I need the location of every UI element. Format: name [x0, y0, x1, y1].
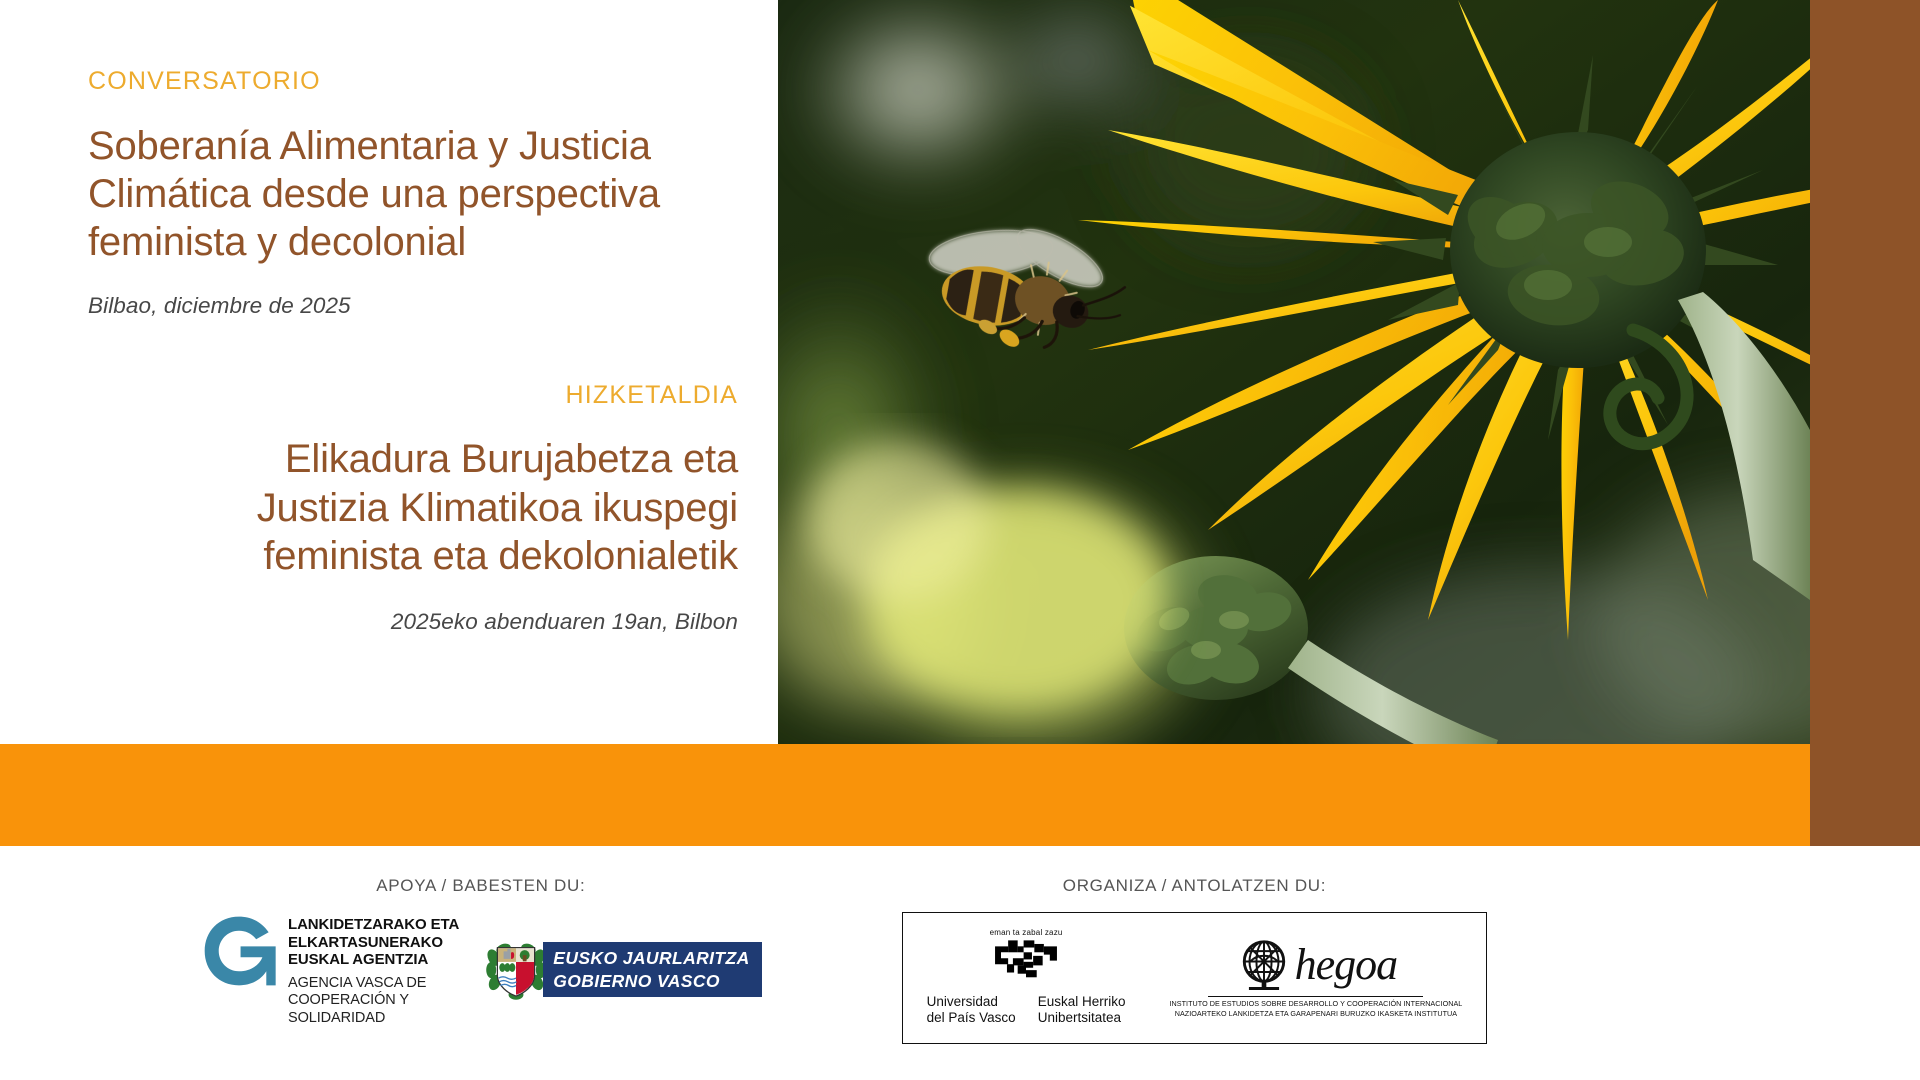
headline-spanish-line-2: Climática desde una perspectiva: [88, 170, 738, 218]
hegoa-wordmark-row: hegoa: [1235, 936, 1398, 994]
hegoa-subtitle-basque: NAZIOARTEKO LANKIDETZA ETA GARAPENARI BU…: [1169, 1009, 1462, 1019]
hegoa-subtitle-spanish: INSTITUTO DE ESTUDIOS SOBRE DESARROLLO Y…: [1169, 999, 1462, 1009]
headline-basque-line-3: feminista eta dekolonialetik: [88, 532, 738, 580]
upv-ehu-names: Universidad del País Vasco Euskal Herrik…: [927, 994, 1126, 1026]
basque-government-logo: EUSKO JAURLARITZA GOBIERNO VASCO: [485, 939, 761, 1001]
upv-name-spanish: Universidad del País Vasco: [927, 994, 1016, 1026]
eyebrow-basque: HIZKETALDIA: [88, 382, 738, 410]
supporters-caption: APOYA / BABESTEN DU:: [200, 876, 762, 896]
elankidetza-name-es: AGENCIA VASCA DE COOPERACIÓN Y SOLIDARID…: [288, 975, 459, 1027]
elankidetza-name-eu: LANKIDETZARAKO ETA ELKARTASUNERAKO EUSKA…: [288, 916, 459, 969]
headline-spanish-line-1: Soberanía Alimentaria y Justicia: [88, 122, 738, 170]
hero-photo: [778, 0, 1810, 744]
organizers-logo-box: eman ta zabal zazu: [902, 912, 1488, 1044]
upv-ehu-logo: eman ta zabal zazu: [927, 928, 1126, 1026]
hegoa-wordmark: hegoa: [1295, 943, 1398, 987]
upv-motto: eman ta zabal zazu: [990, 928, 1063, 937]
headline-basque-line-2: Justizia Klimatikoa ikuspegi: [88, 484, 738, 532]
headline-spanish: Soberanía Alimentaria y Justicia Climáti…: [88, 122, 738, 267]
orange-band: [0, 744, 1810, 846]
headline-basque: Elikadura Burujabetza eta Justizia Klima…: [88, 435, 738, 580]
footer: APOYA / BABESTEN DU: LANKIDETZARAKO ETA …: [0, 846, 1920, 1080]
eyebrow-spanish: CONVERSATORIO: [88, 68, 738, 96]
basque-government-wordmark: EUSKO JAURLARITZA GOBIERNO VASCO: [543, 942, 761, 997]
upv-name-basque: Euskal Herriko Unibertsitatea: [1038, 994, 1126, 1026]
hegoa-subtitle: INSTITUTO DE ESTUDIOS SOBRE DESARROLLO Y…: [1169, 999, 1462, 1018]
headline-spanish-line-3: feminista y decolonial: [88, 218, 738, 266]
basque-government-name-es: GOBIERNO VASCO: [553, 970, 749, 992]
hegoa-globe-icon: [1235, 936, 1293, 994]
dateline-spanish: Bilbao, diciembre de 2025: [88, 291, 738, 320]
supporters-group: APOYA / BABESTEN DU: LANKIDETZARAKO ETA …: [200, 876, 762, 1027]
upv-ehu-lauburu-icon: [990, 938, 1062, 988]
event-poster: CONVERSATORIO Soberanía Alimentaria y Ju…: [0, 0, 1920, 1080]
organizers-group: ORGANIZA / ANTOLATZEN DU: eman ta zabal …: [902, 876, 1488, 1044]
hegoa-divider: [1208, 996, 1423, 997]
dateline-basque: 2025eko abenduaren 19an, Bilbon: [88, 607, 738, 636]
basque-government-name-eu: EUSKO JAURLARITZA: [553, 947, 749, 969]
brown-accent-stripe: [1810, 0, 1920, 846]
hegoa-logo: hegoa INSTITUTO DE ESTUDIOS SOBRE DESARR…: [1169, 936, 1462, 1018]
language-separator: [88, 320, 738, 382]
text-column: CONVERSATORIO Soberanía Alimentaria y Ju…: [0, 0, 778, 744]
elankidetza-logo: LANKIDETZARAKO ETA ELKARTASUNERAKO EUSKA…: [200, 912, 459, 1027]
elankidetza-e-icon: [200, 912, 278, 990]
supporters-logo-row: LANKIDETZARAKO ETA ELKARTASUNERAKO EUSKA…: [200, 912, 762, 1027]
organizers-caption: ORGANIZA / ANTOLATZEN DU:: [902, 876, 1488, 896]
headline-basque-line-1: Elikadura Burujabetza eta: [88, 435, 738, 483]
basque-coat-of-arms-icon: [485, 939, 547, 1001]
